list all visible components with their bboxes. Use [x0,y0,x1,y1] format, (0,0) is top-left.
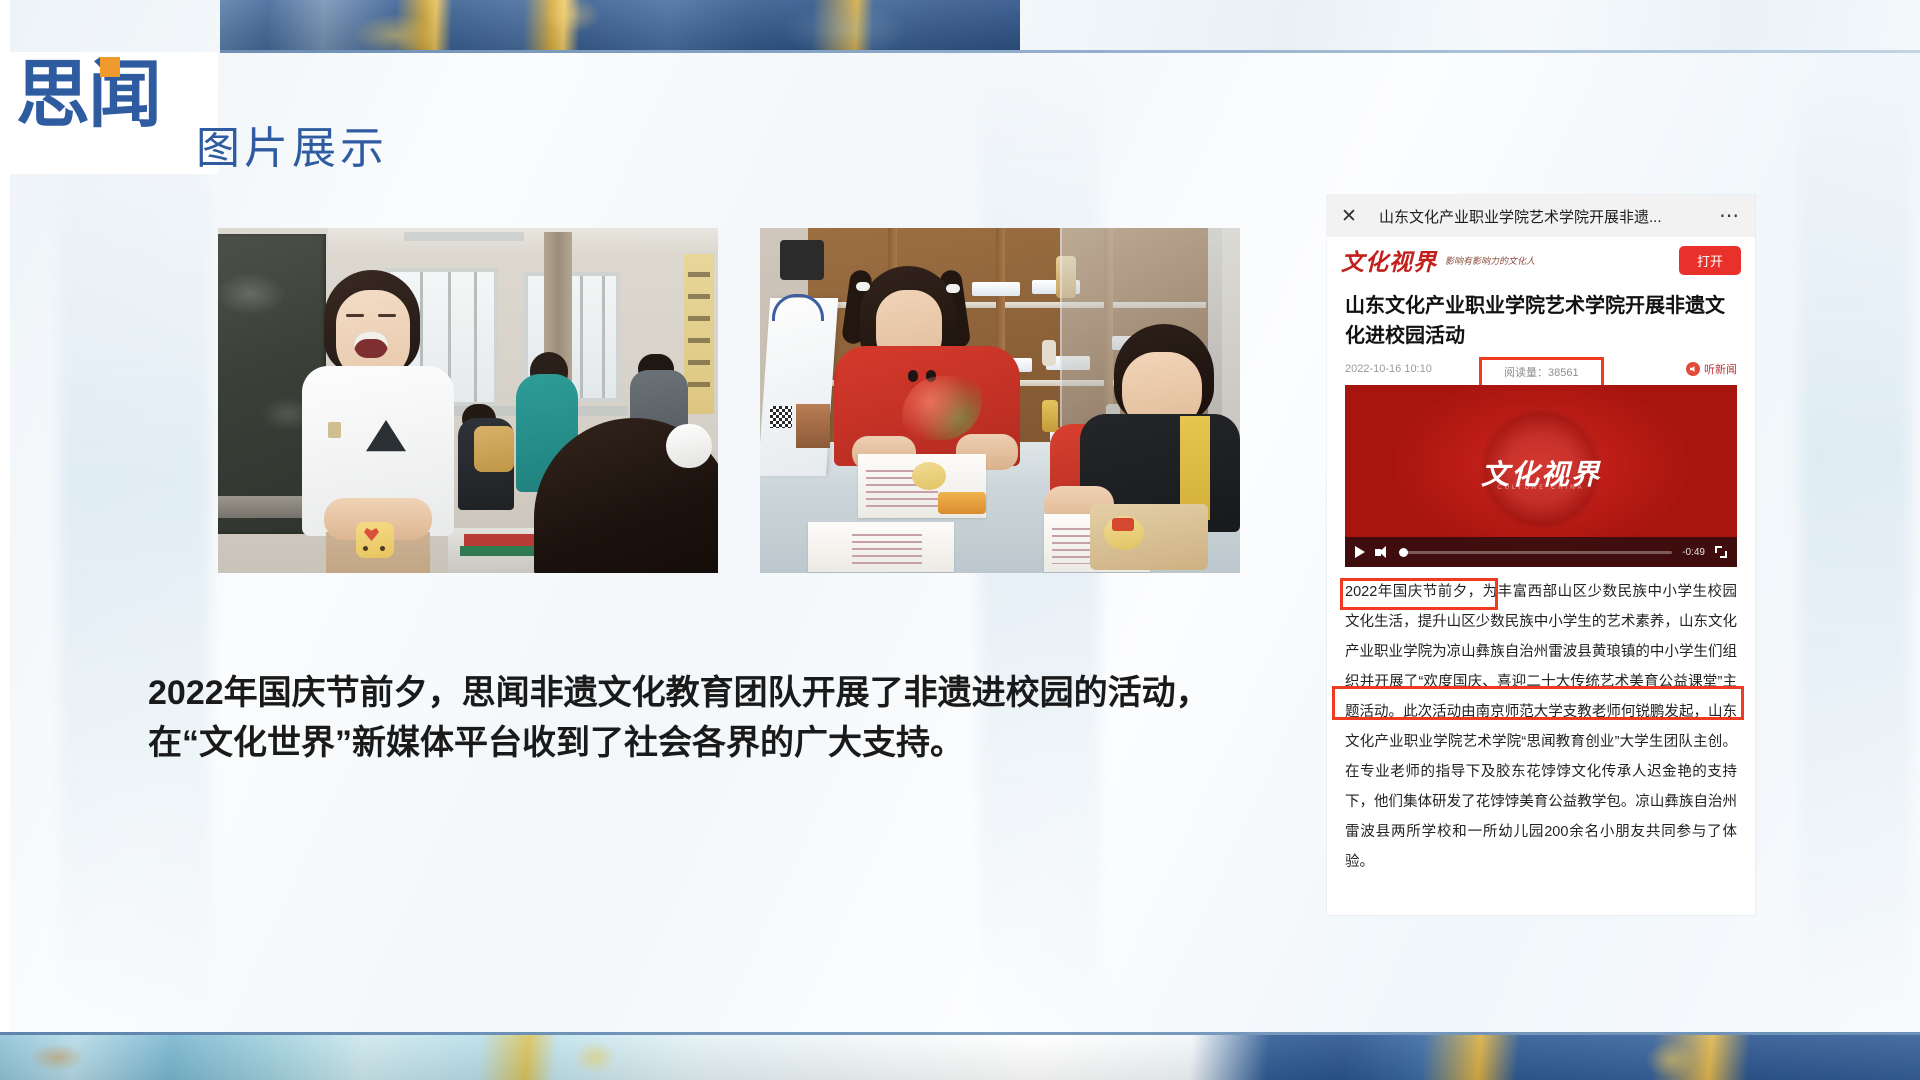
top-decorative-banner [220,0,1020,50]
publisher-brand-bar: 文化视界 影响有影响力的文化人 打开 [1327,237,1755,283]
page-title: 图片展示 [196,112,388,176]
brand-logo-text: 思闻 [16,55,176,135]
read-count-highlight: 阅读量：38561 [1479,357,1604,388]
video-progress-handle[interactable] [1399,548,1408,557]
video-controls-bar: -0:49 [1345,537,1737,567]
article-body-text: 2022年国庆节前夕，为丰富西部山区少数民族中小学生校园文化生活，提升山区少数民… [1327,567,1755,877]
background-streak [1800,80,1910,1020]
webview-topbar: ✕ 山东文化产业职业学院艺术学院开展非遗... ⋯ [1327,195,1755,237]
article-meta-row: 2022-10-16 10:10 听新闻 阅读量：38561 [1327,355,1755,385]
volume-icon[interactable] [1375,546,1389,559]
listen-news-button[interactable]: 听新闻 [1686,361,1737,377]
classroom-teacher-photo [218,228,718,573]
background-streak [60,120,210,1020]
article-video-player[interactable]: 文化视界 CULTURE CHINA -0:49 [1345,385,1737,567]
brand-logo: 思闻 [16,55,176,135]
video-logo-subtext: CULTURE CHINA [1345,485,1737,491]
read-count-label: 阅读量：38561 [1504,367,1579,379]
speaker-icon [1686,362,1700,376]
photo-scene [218,228,718,573]
article-webview-card: ✕ 山东文化产业职业学院艺术学院开展非遗... ⋯ 文化视界 影响有影响力的文化… [1327,195,1755,915]
children-crafting-photo [760,228,1240,573]
more-dots-icon[interactable]: ⋯ [1711,211,1741,221]
video-time-remaining: -0:49 [1682,547,1705,558]
article-date: 2022-10-16 10:10 [1345,363,1432,375]
bottom-decorative-banner [0,1035,1920,1080]
webview-title: 山东文化产业职业学院艺术学院开展非遗... [1369,206,1711,227]
photo-scene [760,228,1240,573]
open-app-button[interactable]: 打开 [1679,246,1741,275]
header-wash [1020,0,1920,50]
publisher-slogan: 影响有影响力的文化人 [1445,254,1535,267]
video-progress-slider[interactable] [1399,551,1672,554]
slide-caption: 2022年国庆节前夕，思闻非遗文化教育团队开展了非遗进校园的活动，在“文化世界”… [148,668,1228,768]
article-headline: 山东文化产业职业学院艺术学院开展非遗文化进校园活动 [1327,283,1755,355]
header-divider-line [220,50,1920,53]
play-icon[interactable] [1355,546,1365,558]
brand-logo-accent-square [100,57,120,77]
listen-news-label: 听新闻 [1704,361,1737,377]
publisher-logo: 文化视界 [1341,243,1437,277]
slide-canvas: 思闻 图片展示 [0,0,1920,1080]
fullscreen-icon[interactable] [1715,546,1727,558]
close-icon[interactable]: ✕ [1341,207,1369,226]
